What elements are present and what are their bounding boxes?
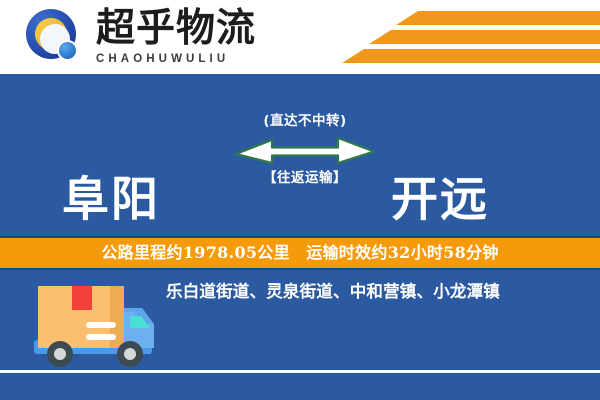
route-info-bar: 公路里程约1978.05公里 运输时效约32小时58分钟 [0,238,600,268]
direct-service-note: (直达不中转) [232,112,378,130]
double-headed-arrow-icon [232,133,378,167]
bottom-divider-rule [0,370,600,373]
delivery-truck-icon [30,278,162,376]
origin-city-name: 阜阳 [62,177,160,224]
coverage-districts-text: 乐白道街道、灵泉街道、中和营镇、小龙潭镇 [166,280,586,304]
coverage-panel: 乐白道街道、灵泉街道、中和营镇、小龙潭镇 [0,270,600,400]
header-stripes-decoration [300,0,600,74]
stripe-1 [396,11,600,25]
banner-header: 超乎物流 CHAOHUWULIU [0,0,600,74]
circle-crescent-logo-icon [26,9,84,67]
logo-accent-dot-icon [57,40,78,61]
route-panel: 阜阳 (直达不中转) 【往返运输】 开远 [0,74,600,236]
brand-lockup: 超乎物流 CHAOHUWULIU [96,8,276,66]
logistics-route-banner: 超乎物流 CHAOHUWULIU 阜阳 (直达不中转) 【往返运输】 开远 公路… [0,0,600,400]
stripe-3 [342,49,600,63]
destination-city-name: 开远 [391,177,489,224]
route-info-text: 公路里程约1978.05公里 运输时效约32小时58分钟 [101,245,498,261]
route-middle-block: (直达不中转) 【往返运输】 [232,112,378,187]
stripe-2 [369,30,600,44]
roundtrip-service-note: 【往返运输】 [232,169,378,187]
brand-name-en: CHAOHUWULIU [96,52,276,66]
brand-name-cn: 超乎物流 [96,8,276,50]
